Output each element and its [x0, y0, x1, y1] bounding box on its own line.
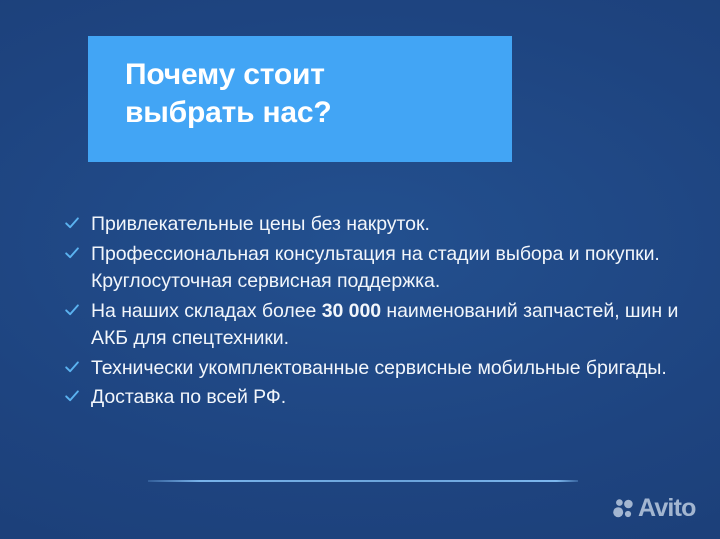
- list-item: На наших складах более 30 000 наименован…: [62, 298, 682, 353]
- check-icon: [64, 302, 80, 318]
- list-item: Профессиональная консультация на стадии …: [62, 241, 682, 296]
- avito-dots-icon: [612, 498, 634, 520]
- page-title-line-2: выбрать нас?: [125, 94, 512, 132]
- slide-canvas: Почему стоит выбрать нас? Привлекательны…: [0, 0, 720, 539]
- check-icon: [64, 359, 80, 375]
- avito-watermark: Avito: [612, 496, 696, 521]
- list-item-label: Привлекательные цены без накруток.: [91, 211, 682, 239]
- list-item: Технически укомплектованные сервисные мо…: [62, 355, 682, 383]
- inventory-count: 30 000: [322, 300, 381, 322]
- avito-wordmark: Avito: [638, 496, 696, 521]
- list-item: Доставка по всей РФ.: [62, 384, 682, 412]
- title-panel: Почему стоит выбрать нас?: [88, 36, 512, 162]
- check-icon: [64, 215, 80, 231]
- list-item-label: Доставка по всей РФ.: [91, 384, 682, 412]
- list-item-label: Профессиональная консультация на стадии …: [91, 241, 682, 296]
- list-item: Привлекательные цены без накруток.: [62, 211, 682, 239]
- list-item-label: Технически укомплектованные сервисные мо…: [91, 355, 682, 383]
- page-title-line-1: Почему стоит: [125, 56, 512, 94]
- check-icon: [64, 245, 80, 261]
- divider: [148, 480, 578, 482]
- list-item-label: На наших складах более 30 000 наименован…: [91, 298, 682, 353]
- check-icon: [64, 388, 80, 404]
- benefits-list: Привлекательные цены без накруток. Профе…: [62, 211, 682, 414]
